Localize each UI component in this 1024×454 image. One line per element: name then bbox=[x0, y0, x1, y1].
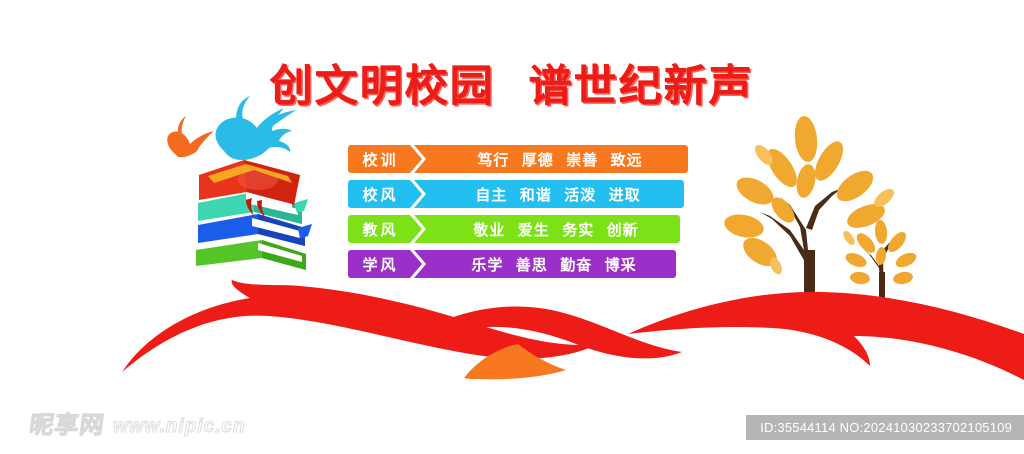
ribbon-center bbox=[440, 307, 682, 359]
banner-label: 校训 bbox=[348, 145, 410, 173]
chevron-right-icon bbox=[410, 180, 432, 208]
banner-row[interactable]: 教风 敬业 爱生 务实 创新 bbox=[348, 215, 688, 243]
banner-row[interactable]: 学风 乐学 善思 勤奋 博采 bbox=[348, 250, 688, 278]
book-green bbox=[196, 240, 306, 270]
chevron-right-icon bbox=[410, 250, 432, 278]
book-teal bbox=[198, 192, 308, 224]
banner-label: 学风 bbox=[348, 250, 410, 278]
watermark-logo-url: www.nipic.cn bbox=[113, 416, 246, 440]
banner-text: 笃行 厚德 崇善 致远 bbox=[432, 145, 688, 173]
banner-label: 教风 bbox=[348, 215, 410, 243]
chevron-right-icon bbox=[410, 145, 432, 173]
banner-label: 校风 bbox=[348, 180, 410, 208]
ribbon-left bbox=[122, 280, 598, 372]
banner-text: 敬业 爱生 务实 创新 bbox=[432, 215, 680, 243]
ribbon-orange-accent bbox=[464, 344, 566, 379]
small-bird-icon bbox=[167, 116, 214, 157]
banner-list: 校训 笃行 厚德 崇善 致远 校风 自主 和谐 活泼 进取 教风 bbox=[348, 145, 688, 285]
banner-text: 乐学 善思 勤奋 博采 bbox=[432, 250, 676, 278]
ribbon-right bbox=[628, 292, 1024, 380]
site-watermark-logo: 昵享网 www.nipic.cn bbox=[30, 405, 246, 440]
banner-text: 自主 和谐 活泼 进取 bbox=[432, 180, 684, 208]
book-red bbox=[199, 160, 300, 219]
large-tree bbox=[722, 115, 897, 292]
watermark-id-badge: ID:35544114 NO:20241030233702105109 bbox=[746, 415, 1024, 440]
banner-row[interactable]: 校训 笃行 厚德 崇善 致远 bbox=[348, 145, 688, 173]
watermark-logo-text: 昵享网 bbox=[28, 405, 108, 440]
poster-canvas: 创文明校园 谱世纪新声 校训 笃行 厚德 崇善 致远 校风 自主 和谐 活泼 进… bbox=[0, 0, 1024, 454]
chevron-right-icon bbox=[410, 215, 432, 243]
poster-title: 创文明校园 谱世纪新声 bbox=[0, 66, 1024, 109]
book-blue bbox=[198, 214, 312, 246]
banner-row[interactable]: 校风 自主 和谐 活泼 进取 bbox=[348, 180, 688, 208]
small-tree bbox=[841, 220, 918, 300]
